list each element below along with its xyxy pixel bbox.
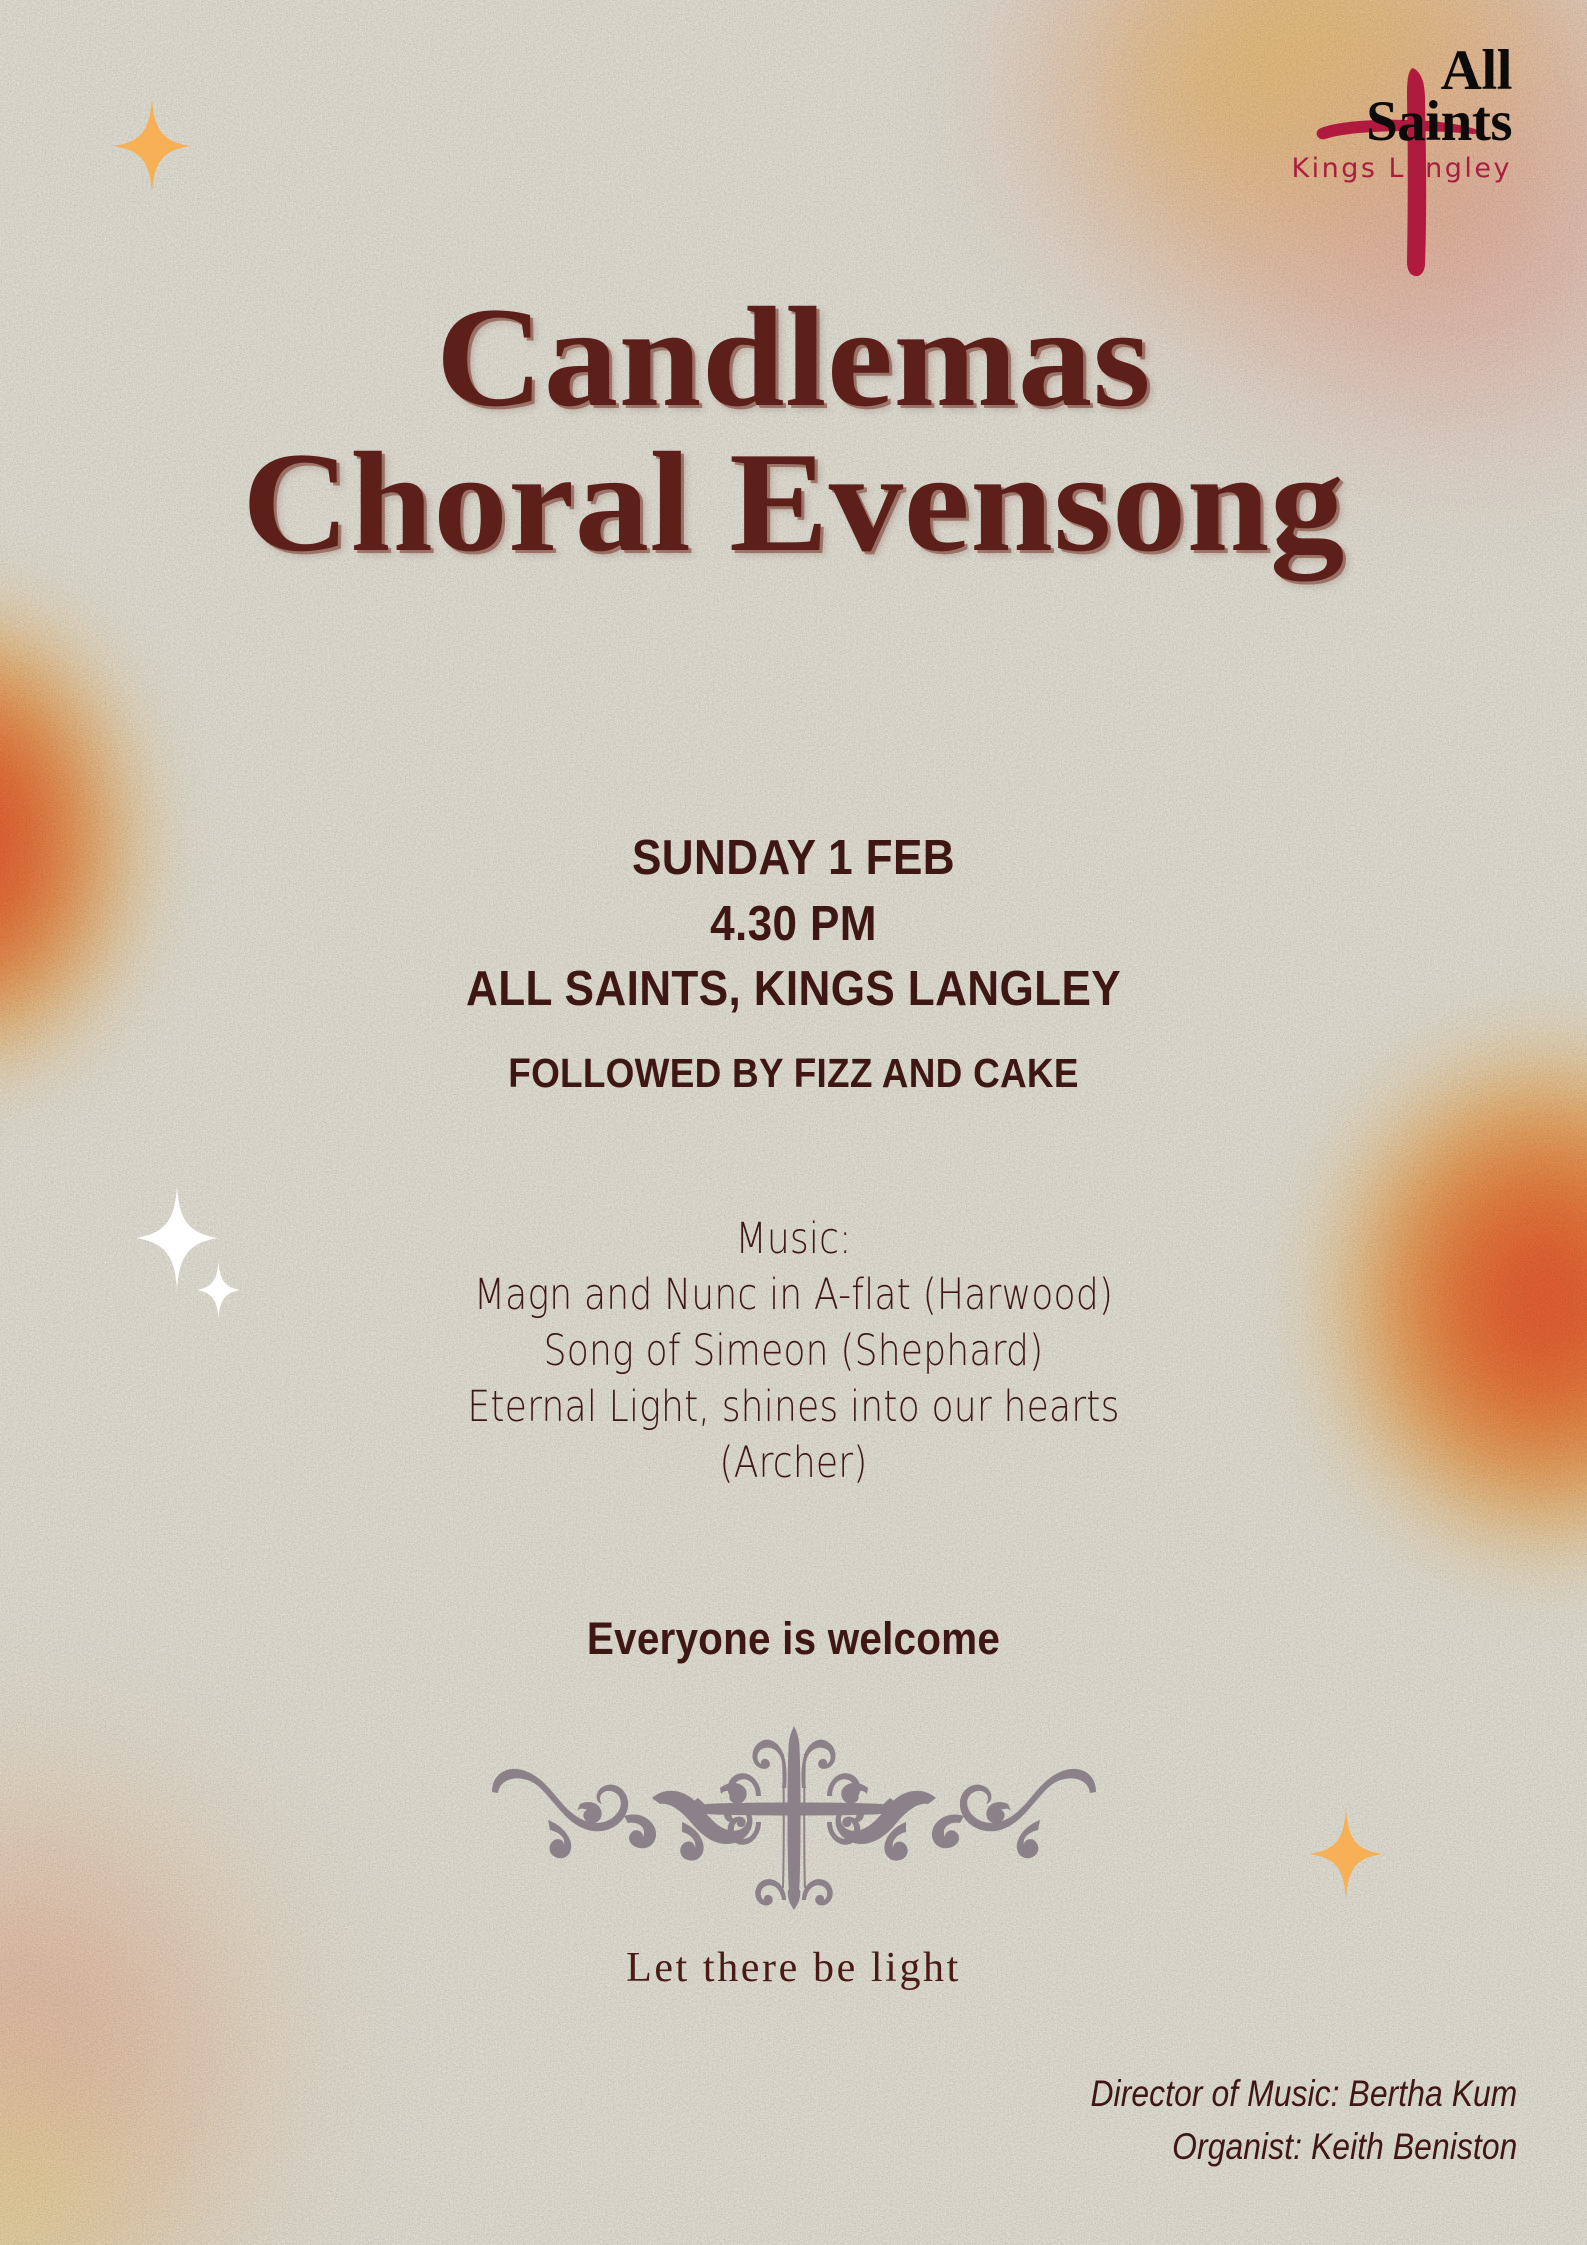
music-item: Song of Simeon (Shephard)	[127, 1324, 1460, 1380]
logo-line-saints: Saints	[1291, 95, 1512, 150]
credit-director-of-music: Director of Music: Bertha Kum	[1090, 2068, 1517, 2121]
gradient-blob-bottom-left-yellow	[0, 2010, 195, 2245]
music-item: (Archer)	[127, 1436, 1460, 1492]
logo-line-kings-langley: Kings Langley	[1291, 156, 1512, 182]
poster-canvas: All Saints Kings Langley Candlemas Chora…	[0, 0, 1587, 2245]
title-line-choral-evensong: Choral Evensong	[0, 433, 1587, 572]
music-list: Music: Magn and Nunc in A-flat (Harwood)…	[0, 1212, 1587, 1491]
page-title: Candlemas Choral Evensong	[0, 288, 1587, 571]
music-item: Magn and Nunc in A-flat (Harwood)	[127, 1268, 1460, 1324]
tagline: Let there be light	[0, 1944, 1587, 1992]
credit-organist: Organist: Keith Beniston	[1090, 2121, 1517, 2174]
sparkle-icon-amber-bottom-right	[1309, 1808, 1383, 1900]
sparkle-icon-amber-top-left	[113, 98, 191, 194]
credits-block: Director of Music: Bertha Kum Organist: …	[1021, 2068, 1517, 2173]
decorative-cross-icon	[692, 1726, 896, 1910]
ornamental-cross-divider	[484, 1720, 1104, 1910]
event-date: SUNDAY 1 FEB	[79, 826, 1507, 892]
flourish-left	[492, 1769, 752, 1861]
welcome-message: Everyone is welcome	[79, 1613, 1507, 1665]
event-details: SUNDAY 1 FEB 4.30 PM ALL SAINTS, KINGS L…	[0, 826, 1587, 1023]
followed-by-note: FOLLOWED BY FIZZ AND CAKE	[79, 1050, 1507, 1097]
music-heading: Music:	[127, 1212, 1460, 1268]
music-item: Eternal Light, shines into our hearts	[127, 1380, 1460, 1436]
event-venue: ALL SAINTS, KINGS LANGLEY	[79, 957, 1507, 1023]
event-time: 4.30 PM	[79, 892, 1507, 958]
logo-wordmark: All Saints Kings Langley	[1291, 44, 1512, 182]
title-line-candlemas: Candlemas	[0, 288, 1587, 427]
flourish-right	[835, 1769, 1095, 1861]
